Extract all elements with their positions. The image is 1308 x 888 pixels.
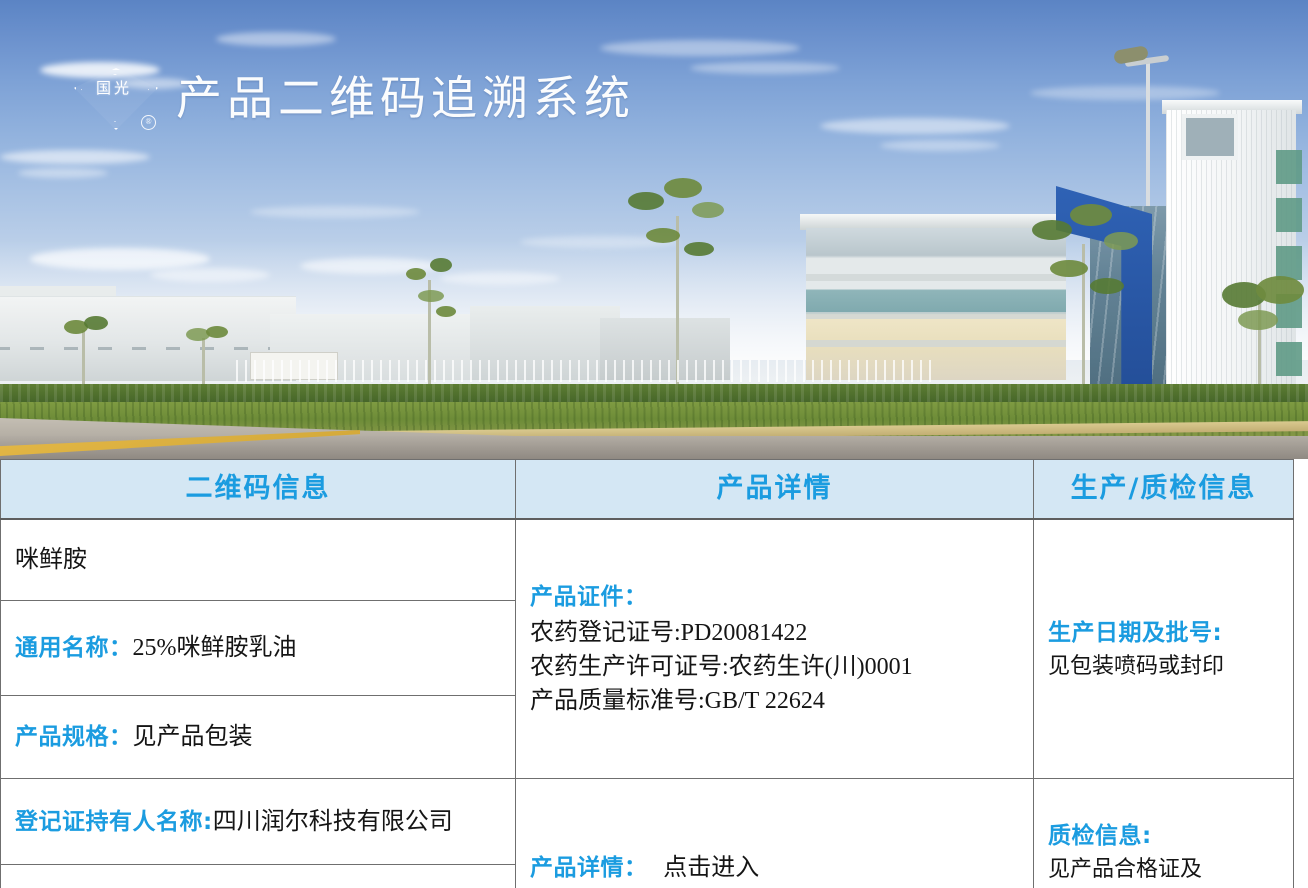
tree <box>60 316 110 390</box>
cell-manufacturer: 生产企业名称:四川润尔科技有限公司 <box>1 865 516 888</box>
fence <box>236 360 936 382</box>
cell-production-date-batch: 生产日期及批号: 见包装喷码或封印 <box>1034 519 1294 779</box>
column-header-product-detail: 产品详情 <box>516 460 1034 520</box>
cell-common-name: 通用名称：25%咪鲜胺乳油 <box>1 601 516 696</box>
qc-info-line-1: 见产品合格证及 <box>1048 853 1279 884</box>
product-detail-label: 产品详情： <box>530 855 648 881</box>
column-header-production-qc: 生产/质检信息 <box>1034 460 1294 520</box>
cell-product-detail-link[interactable]: 产品详情： 点击进入 <box>516 779 1034 888</box>
registration-holder-label: 登记证持有人名称: <box>15 809 213 835</box>
cloud <box>1030 86 1220 100</box>
qc-info-line-2: 对应批次质检报告 <box>1048 884 1279 888</box>
logo-text: 国光 <box>70 82 158 97</box>
common-name-value: 25%咪鲜胺乳油 <box>133 635 297 661</box>
cell-registration-holder: 登记证持有人名称:四川润尔科技有限公司 <box>1 779 516 865</box>
specification-label: 产品规格： <box>15 724 133 750</box>
production-license-line: 农药生产许可证号:农药生许(川)0001 <box>530 650 1019 684</box>
cloud <box>250 206 420 218</box>
cloud <box>216 32 336 46</box>
product-name-value: 咪鲜胺 <box>15 547 87 573</box>
specification-value: 见产品包装 <box>133 724 253 750</box>
cell-qc-info: 质检信息: 见产品合格证及 对应批次质检报告 <box>1034 779 1294 888</box>
registration-holder-value: 四川润尔科技有限公司 <box>213 809 453 835</box>
common-name-label: 通用名称： <box>15 635 133 661</box>
tree <box>620 176 740 390</box>
cloud <box>820 118 1010 134</box>
table-header-row: 二维码信息 产品详情 生产/质检信息 <box>1 460 1294 520</box>
certificates-label: 产品证件： <box>530 581 1019 614</box>
cell-product-name: 咪鲜胺 <box>1 519 516 601</box>
cell-specification: 产品规格：见产品包装 <box>1 696 516 779</box>
cloud <box>690 62 840 74</box>
tree <box>1218 276 1308 392</box>
cell-product-certificates: 产品证件： 农药登记证号:PD20081422 农药生产许可证号:农药生许(川)… <box>516 519 1034 779</box>
qc-info-label: 质检信息: <box>1048 820 1279 853</box>
registered-mark-icon: ® <box>141 115 156 130</box>
table-row: 登记证持有人名称:四川润尔科技有限公司 产品详情： 点击进入 质检信息: 见产品… <box>1 779 1294 865</box>
cloud <box>0 150 150 164</box>
quality-standard-line: 产品质量标准号:GB/T 22624 <box>530 684 1019 718</box>
table-row: 咪鲜胺 产品证件： 农药登记证号:PD20081422 农药生产许可证号:农药生… <box>1 519 1294 601</box>
hero-banner-photo: 国光 ® 产品二维码追溯系统 <box>0 0 1308 459</box>
product-traceability-table: 二维码信息 产品详情 生产/质检信息 咪鲜胺 产品证件： 农药登记证号:PD20… <box>0 459 1294 888</box>
cloud <box>18 168 108 178</box>
production-date-label: 生产日期及批号: <box>1048 617 1279 650</box>
tree <box>1020 198 1150 390</box>
product-detail-enter-link[interactable]: 点击进入 <box>663 855 759 881</box>
guoguang-logo-icon: 国光 ® <box>70 66 158 130</box>
registration-number-line: 农药登记证号:PD20081422 <box>530 616 1019 650</box>
column-header-qr-info: 二维码信息 <box>1 460 516 520</box>
cloud <box>600 40 800 56</box>
tree <box>180 326 230 390</box>
tower-opening <box>1182 114 1238 160</box>
brand-lockup: 国光 ® 产品二维码追溯系统 <box>70 66 635 130</box>
cloud <box>880 140 1000 151</box>
production-date-value: 见包装喷码或封印 <box>1048 650 1279 681</box>
page-title: 产品二维码追溯系统 <box>176 75 635 121</box>
page-root: 国光 ® 产品二维码追溯系统 二维码信息 产品详情 生产/质检信息 咪鲜胺 <box>0 0 1308 888</box>
info-table-wrapper: 二维码信息 产品详情 生产/质检信息 咪鲜胺 产品证件： 农药登记证号:PD20… <box>0 459 1308 888</box>
